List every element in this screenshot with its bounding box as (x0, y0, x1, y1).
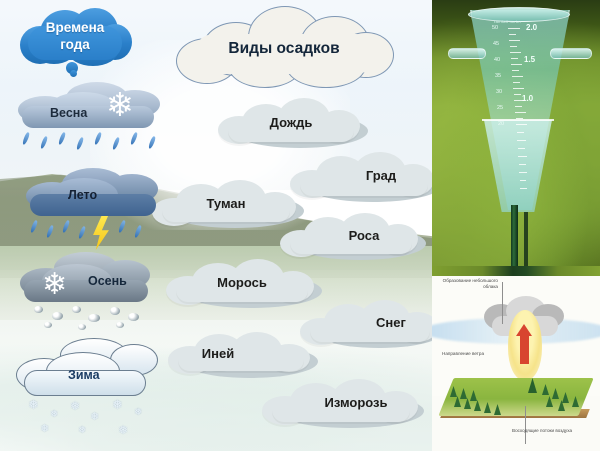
rain-drop (148, 136, 157, 150)
season-icon-winter: Зима ❅ ❅ ❅ ❅ ❅ ❅ ❅ ❅ ❅ (14, 338, 164, 444)
gauge-tick (513, 88, 524, 89)
season-label-spring: Весна (50, 106, 87, 120)
season-label-winter: Зима (68, 368, 100, 382)
snowflake-icon: ❅ (28, 398, 39, 411)
rain-drop (118, 220, 127, 234)
gauge-mm-20: 20 (498, 121, 504, 127)
gauge-handle-left (448, 48, 486, 59)
cloud-base (22, 106, 154, 128)
snowflake-icon: ❅ (112, 398, 123, 411)
gauge-tick (512, 76, 523, 77)
rain-gauge-photo: rainfall meter 50 45 40 35 30 25 20 2.0 … (432, 0, 600, 266)
gauge-tick (518, 148, 525, 149)
gauge-tick (514, 100, 525, 101)
hailstone (34, 306, 43, 313)
hailstone (72, 306, 81, 313)
precipitation-cloud-drizzle: Морось (166, 258, 318, 308)
gauge-tick (516, 124, 527, 125)
hailstone (52, 312, 63, 320)
gauge-mm-25: 25 (497, 105, 503, 111)
precipitation-label-snow: Снег (342, 315, 440, 330)
precipitation-label-fog: Туман (152, 196, 300, 211)
rain-drop (46, 225, 55, 239)
weather-poster: Времена года Виды осадков Дождь Гра (0, 0, 600, 451)
precipitation-label-rain: Дождь (218, 115, 364, 130)
snowflake-icon: ❅ (90, 412, 99, 423)
precipitation-cloud-hoarfrost: Иней (168, 330, 314, 378)
gauge-mm-35: 35 (495, 73, 501, 79)
gauge-tick (514, 94, 521, 95)
rain-drop (130, 132, 139, 146)
diagram-top-strip (432, 266, 600, 276)
precipitation-cloud-snow: Снег (300, 300, 440, 348)
gauge-stake-shadow (524, 212, 528, 266)
rain-drop (134, 225, 143, 239)
gauge-tick (512, 70, 519, 71)
gauge-tick (517, 140, 526, 141)
gauge-inch-2-0: 2.0 (526, 23, 537, 32)
lightning-bolt-icon (90, 216, 112, 250)
rain-drop (22, 132, 31, 146)
diagram-label-cloud-formation: Образование небольшого облака (440, 278, 498, 290)
gauge-mm-45: 45 (493, 41, 499, 47)
precipitation-label-hail: Град (324, 168, 438, 183)
gauge-tick (511, 64, 522, 65)
season-icon-spring: ❄ Весна (14, 82, 174, 162)
precipitation-label-drizzle: Морось (166, 275, 318, 290)
gauge-tick (515, 106, 522, 107)
season-icon-autumn: ❄ Осень (18, 252, 168, 342)
precipitation-cloud-dew: Роса (280, 212, 422, 260)
season-label-summer: Лето (68, 188, 97, 202)
snowflake-icon: ❅ (40, 424, 49, 435)
gauge-tick (515, 112, 526, 113)
snowflake-icon: ❅ (78, 426, 86, 436)
gauge-scale: 50 45 40 35 30 25 20 2.0 1.5 1.0 (492, 22, 552, 202)
cloud-tail-dot (70, 70, 77, 77)
hailstone (88, 314, 100, 322)
precipitation-cloud-rain: Дождь (218, 98, 364, 148)
header-cloud-label: Виды осадков (176, 40, 392, 58)
gauge-tick (519, 164, 526, 165)
snowflake-icon: ❅ (50, 410, 58, 420)
gauge-tick (510, 46, 517, 47)
gauge-tick (508, 28, 520, 29)
gauge-ground-stake (511, 205, 518, 266)
season-label-autumn: Осень (88, 274, 127, 288)
cloud-formation-diagram: Образование небольшого облака Направлени… (432, 266, 600, 451)
hailstone (116, 322, 124, 328)
arrow-shaft (520, 334, 529, 364)
gauge-tick (509, 40, 520, 41)
rain-drop (58, 132, 67, 146)
title-cloud-seasons: Времена года (14, 6, 136, 74)
gauge-tick (518, 156, 527, 157)
gauge-inch-1-5: 1.5 (524, 55, 535, 64)
rain-drop (76, 137, 85, 151)
precipitation-cloud-rime: Изморозь (262, 378, 420, 428)
snowflake-icon: ❅ (118, 424, 128, 436)
gauge-tick (516, 118, 523, 119)
precipitation-cloud-hail: Град (290, 152, 438, 202)
title-cloud-line1: Времена (14, 20, 136, 37)
rain-drop (30, 220, 39, 234)
gauge-mm-50: 50 (492, 25, 498, 31)
gauge-tick (513, 82, 520, 83)
gauge-tick (520, 188, 527, 189)
snowflake-icon: ❅ (70, 400, 80, 412)
snowflake-icon: ❄ (106, 88, 134, 121)
gauge-tick (517, 132, 524, 133)
snowflake-icon: ❅ (134, 408, 142, 418)
hailstone (110, 307, 120, 315)
precipitation-cloud-fog: Туман (152, 178, 300, 228)
leader-line-updraft (525, 406, 526, 444)
gauge-inch-1-0: 1.0 (522, 94, 533, 103)
header-cloud-precipitation-types: Виды осадков (176, 4, 392, 88)
gauge-tick (510, 52, 521, 53)
gauge-tick (520, 180, 526, 181)
gauge-tick (511, 58, 518, 59)
hailstone (78, 324, 86, 330)
precipitation-label-hoarfrost: Иней (168, 346, 268, 361)
gauge-mm-30: 30 (496, 89, 502, 95)
precipitation-label-rime: Изморозь (292, 395, 420, 410)
title-cloud-line2: года (14, 37, 136, 54)
gauge-mm-40: 40 (494, 57, 500, 63)
diagram-label-wind-direction: Направление ветра (434, 351, 484, 357)
gauge-tick (519, 172, 527, 173)
gauge-handle-right (550, 48, 592, 59)
rain-drop (62, 220, 71, 234)
gauge-brand-text: rainfall meter (494, 19, 521, 24)
precipitation-label-dew: Роса (306, 228, 422, 243)
gauge-tick (509, 34, 516, 35)
diagram-label-updraft: Восходящие потоки воздуха (512, 428, 574, 434)
rain-drop (40, 136, 49, 150)
rain-drop (78, 226, 87, 240)
rain-drop (112, 137, 121, 151)
hailstone (44, 322, 52, 328)
leader-line-cloud (502, 282, 503, 324)
hailstone (128, 313, 139, 321)
rain-drop (94, 132, 103, 146)
snowflake-icon: ❄ (42, 270, 67, 300)
